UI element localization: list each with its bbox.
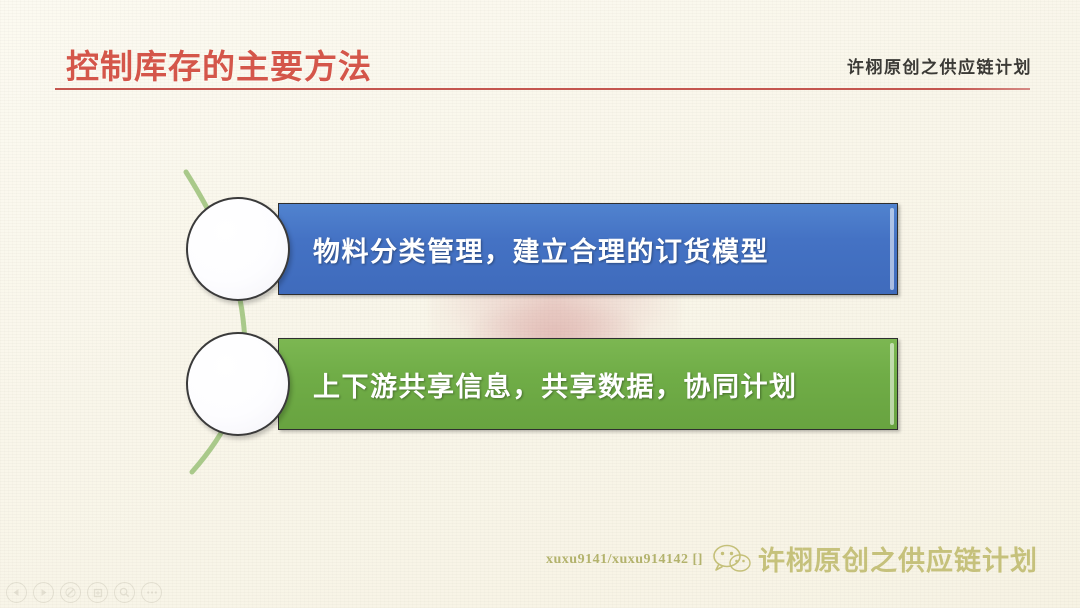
bullet-circle-icon <box>186 332 290 436</box>
expand-view-button[interactable] <box>87 582 108 603</box>
previous-slide-button[interactable] <box>6 582 27 603</box>
more-options-button[interactable] <box>141 582 162 603</box>
footer-brand: 许栩原创之供应链计划 <box>712 539 1038 578</box>
header-subtitle: 许栩原创之供应链计划 <box>847 53 1032 78</box>
next-slide-button[interactable] <box>33 582 54 603</box>
bullet-circle-icon <box>186 197 290 301</box>
wechat-icon <box>712 543 752 575</box>
item-label: 物料分类管理，建立合理的订货模型 <box>279 230 769 269</box>
footer-watermark-text: xuxu9141/xuxu914142 [] <box>546 552 703 568</box>
zoom-button[interactable] <box>114 582 135 603</box>
slide-header: 控制库存的主要方法 许栩原创之供应链计划 <box>0 0 1080 100</box>
page-title: 控制库存的主要方法 <box>66 40 372 88</box>
item-bar-blue[interactable]: 物料分类管理，建立合理的订货模型 <box>278 203 898 295</box>
player-toolbar[interactable] <box>6 582 162 603</box>
title-underline-rule <box>55 88 1030 90</box>
pen-annotation-button[interactable] <box>60 582 81 603</box>
item-bar-green[interactable]: 上下游共享信息，共享数据，协同计划 <box>278 338 898 430</box>
item-label: 上下游共享信息，共享数据，协同计划 <box>279 365 798 404</box>
presentation-slide: 控制库存的主要方法 许栩原创之供应链计划 物料分类管理，建立合理的订货模型 上下… <box>0 0 1080 608</box>
footer-brand-text: 许栩原创之供应链计划 <box>758 539 1038 578</box>
